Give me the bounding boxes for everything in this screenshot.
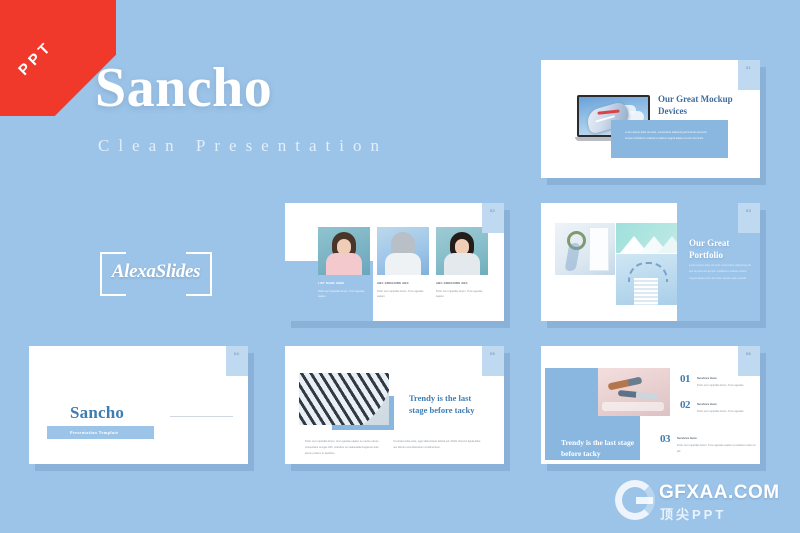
building-shape [634, 278, 658, 305]
ppt-corner-ribbon: PPT [0, 0, 116, 116]
team-member-card [377, 227, 429, 275]
facade-pattern [299, 373, 389, 425]
architecture-photo [299, 373, 389, 425]
team-name: ABC GREGOIRE ABC [436, 281, 488, 285]
portrait-photo [436, 227, 488, 275]
slide-body-left: Proin nec imperdiet lorem, tunc egestas … [305, 439, 383, 457]
team-caption: LIST NAME HERE Proin nec imperdiet lorem… [318, 281, 370, 300]
page-title: Sancho [95, 60, 272, 116]
alexaslides-logo: AlexaSlides [100, 252, 212, 296]
slide-number: 02 [490, 208, 495, 213]
team-body: Proin nec imperdiet lorem. Tunc egestas … [318, 289, 370, 300]
team-member-card [318, 227, 370, 275]
team-member-card [436, 227, 488, 275]
service-number: 03 [660, 434, 670, 445]
service-list-item: 02 Services Here Proin nec imperdiet lor… [680, 400, 755, 415]
paint-tools-photo [598, 368, 670, 416]
tagline-band: Presentation Template [47, 426, 154, 439]
service-list-item: 03 Services Here Proin nec imperdiet lor… [660, 434, 757, 454]
service-body: Proin nec imperdiet lorem. Tunc egestas … [677, 443, 757, 454]
tray-shape [602, 402, 664, 411]
service-heading: Services Here [697, 402, 755, 406]
brush-shape [608, 377, 643, 391]
slide-heading: Our Great Mockup Devices [658, 93, 753, 117]
door-shape [589, 227, 609, 271]
service-number: 01 [680, 374, 690, 385]
service-list-item: 01 Services Here Proin nec imperdiet lor… [680, 374, 755, 389]
watermark-subtitle: 顶尖PPT [660, 504, 726, 523]
slide-thumbnail-title[interactable]: Sancho Presentation Template 04 [29, 346, 248, 464]
slide-body-text: Lorem ipsum dolor sit amet, consectetur … [625, 130, 713, 142]
service-number: 02 [680, 400, 690, 411]
preview-canvas: PPT Sancho Clean Presentation AlexaSlide… [0, 0, 800, 533]
slide-number: 04 [234, 351, 239, 356]
torso-shape [385, 253, 421, 275]
service-heading: Services Here [697, 376, 755, 380]
service-body: Proin nec imperdiet lorem. Tunc egestas. [697, 409, 755, 415]
team-body: Proin nec imperdiet lorem. Tunc egestas … [436, 289, 488, 300]
portrait-photo [377, 227, 429, 275]
slide-corner-tab: 03 [738, 203, 760, 233]
divider-line [170, 416, 233, 417]
watermark-domain: GFXAA.COM [659, 482, 780, 504]
slide-text-box: Lorem ipsum dolor sit amet, consectetur … [611, 120, 728, 158]
slide-thumbnail-mockup-devices[interactable]: Our Great Mockup Devices Lorem ipsum dol… [541, 60, 760, 178]
slide-number: 06 [746, 351, 751, 356]
service-body: Proin nec imperdiet lorem. Tunc egestas. [697, 383, 755, 389]
slide-heading: Our Great Portfolio [689, 237, 753, 261]
portfolio-image-grid [555, 223, 677, 305]
torso-shape [444, 253, 480, 275]
slide-heading: Trendy is the last stage before tacky [409, 392, 485, 417]
portrait-photo [318, 227, 370, 275]
service-heading: Services Here [677, 436, 757, 440]
team-name: ABC GREGOIRE ABC [377, 281, 429, 285]
slide-number: 05 [490, 351, 495, 356]
slide-heading: Sancho [70, 403, 124, 423]
team-caption: ABC GREGOIRE ABC Proin nec imperdiet lor… [436, 281, 488, 300]
page-subtitle: Clean Presentation [98, 136, 388, 156]
slide-heading: Trendy is the last stage before tacky [561, 438, 639, 460]
slide-body-right: Ut ornare tellus ante, eget ullamcorper … [393, 439, 485, 451]
slide-corner-tab: 01 [738, 60, 760, 90]
slide-corner-tab: 06 [738, 346, 760, 376]
slide-thumbnail-team[interactable]: LIST NAME HERE Proin nec imperdiet lorem… [285, 203, 504, 321]
slide-corner-tab: 05 [482, 346, 504, 376]
slide-number: 03 [746, 208, 751, 213]
slide-thumbnail-trendy[interactable]: Trendy is the last stage before tacky Pr… [285, 346, 504, 464]
torso-shape [326, 253, 362, 275]
team-caption: ABC GREGOIRE ABC Proin nec imperdiet lor… [377, 281, 429, 300]
slide-thumbnail-services[interactable]: Trendy is the last stage before tacky 01… [541, 346, 760, 464]
portfolio-photo-door [555, 223, 615, 275]
portfolio-photo-mountains [616, 223, 677, 253]
wreath-shadow [565, 243, 581, 271]
g-logo-bar [636, 497, 653, 504]
mountain-shape [658, 236, 677, 253]
brush-shape [618, 390, 658, 400]
team-name: LIST NAME HERE [318, 281, 370, 285]
logo-text: AlexaSlides [102, 261, 210, 283]
slide-thumbnail-portfolio[interactable]: Our Great Portfolio Lorem ipsum dolor si… [541, 203, 760, 321]
sneaker-stripe [597, 110, 619, 115]
slide-tagline: Presentation Template [70, 430, 118, 435]
slide-corner-tab: 04 [226, 346, 248, 376]
gfxaa-watermark: GFXAA.COM 顶尖PPT [615, 478, 790, 526]
slide-corner-tab: 02 [482, 203, 504, 233]
team-body: Proin nec imperdiet lorem. Tunc egestas … [377, 289, 429, 300]
slide-body-text: Lorem ipsum dolor sit amet consectetur a… [689, 263, 751, 282]
portfolio-photo-architecture [616, 254, 677, 305]
slide-number: 01 [746, 65, 751, 70]
